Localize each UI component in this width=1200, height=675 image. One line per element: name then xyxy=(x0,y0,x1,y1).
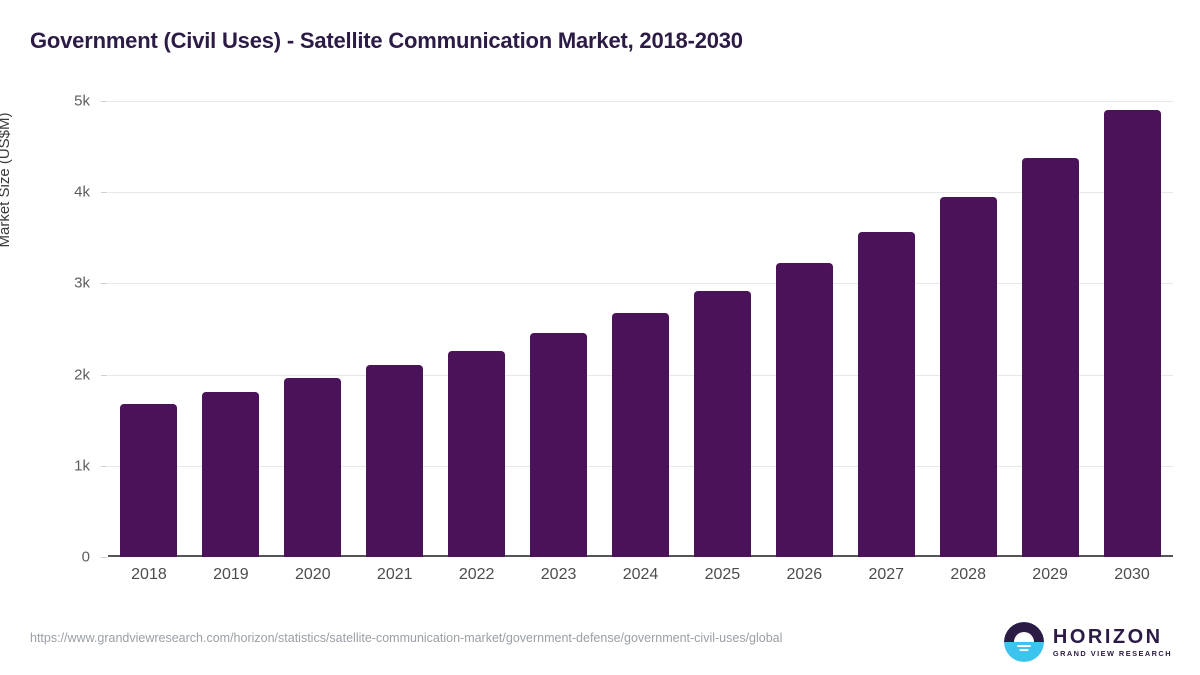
y-tick-label: 1k xyxy=(74,457,90,474)
logo-wordmark: HORIZON xyxy=(1053,627,1172,647)
bar-slot xyxy=(600,101,682,557)
x-tick-label-2020: 2020 xyxy=(272,566,354,584)
bar-slot xyxy=(108,101,190,557)
bar-2018[interactable] xyxy=(120,404,177,557)
source-url[interactable]: https://www.grandviewresearch.com/horizo… xyxy=(30,630,950,647)
x-tick-label-2026: 2026 xyxy=(763,566,845,584)
x-tick-label-2022: 2022 xyxy=(436,566,518,584)
y-tick-label: 3k xyxy=(74,275,90,292)
bar-2022[interactable] xyxy=(448,351,505,557)
logo-tagline: GRAND VIEW RESEARCH xyxy=(1053,650,1172,657)
x-tick-label-2028: 2028 xyxy=(927,566,1009,584)
bar-2029[interactable] xyxy=(1022,158,1079,557)
y-tick-mark xyxy=(101,557,107,558)
bar-2025[interactable] xyxy=(694,291,751,557)
bar-series xyxy=(108,101,1173,557)
y-axis-title: Market Size (US$M) xyxy=(0,30,13,330)
x-tick-label-2027: 2027 xyxy=(845,566,927,584)
bar-slot xyxy=(518,101,600,557)
bar-slot xyxy=(272,101,354,557)
bar-2023[interactable] xyxy=(530,333,587,557)
y-tick-mark xyxy=(101,375,107,376)
bar-slot xyxy=(436,101,518,557)
bar-slot xyxy=(354,101,436,557)
x-tick-label-2030: 2030 xyxy=(1091,566,1173,584)
x-tick-label-2018: 2018 xyxy=(108,566,190,584)
y-tick-mark xyxy=(101,466,107,467)
y-tick-mark xyxy=(101,283,107,284)
y-tick-label: 2k xyxy=(74,366,90,383)
page-title: Government (Civil Uses) - Satellite Comm… xyxy=(30,28,743,54)
bar-slot xyxy=(927,101,1009,557)
bar-slot xyxy=(190,101,272,557)
x-axis-labels: 2018201920202021202220232024202520262027… xyxy=(108,566,1173,584)
chart-page: Government (Civil Uses) - Satellite Comm… xyxy=(0,0,1200,675)
y-tick-label: 0 xyxy=(82,549,90,566)
bar-2019[interactable] xyxy=(202,392,259,557)
y-tick-mark xyxy=(101,192,107,193)
bar-2021[interactable] xyxy=(366,365,423,557)
bar-slot xyxy=(681,101,763,557)
y-tick-mark xyxy=(101,101,107,102)
bar-slot xyxy=(1091,101,1173,557)
x-tick-label-2024: 2024 xyxy=(600,566,682,584)
x-tick-label-2019: 2019 xyxy=(190,566,272,584)
bar-slot xyxy=(1009,101,1091,557)
x-tick-label-2025: 2025 xyxy=(681,566,763,584)
x-tick-label-2023: 2023 xyxy=(518,566,600,584)
x-tick-label-2029: 2029 xyxy=(1009,566,1091,584)
bar-2028[interactable] xyxy=(940,197,997,557)
bar-slot xyxy=(763,101,845,557)
y-tick-label: 4k xyxy=(74,184,90,201)
bar-2026[interactable] xyxy=(776,263,833,557)
x-tick-label-2021: 2021 xyxy=(354,566,436,584)
bar-2027[interactable] xyxy=(858,232,915,557)
bar-2030[interactable] xyxy=(1104,110,1161,557)
bar-2020[interactable] xyxy=(284,378,341,557)
bar-slot xyxy=(845,101,927,557)
y-tick-label: 5k xyxy=(74,93,90,110)
horizon-sun-circle-icon xyxy=(1004,622,1044,662)
bar-2024[interactable] xyxy=(612,313,669,557)
brand-logo[interactable]: HORIZON GRAND VIEW RESEARCH xyxy=(1004,622,1172,662)
